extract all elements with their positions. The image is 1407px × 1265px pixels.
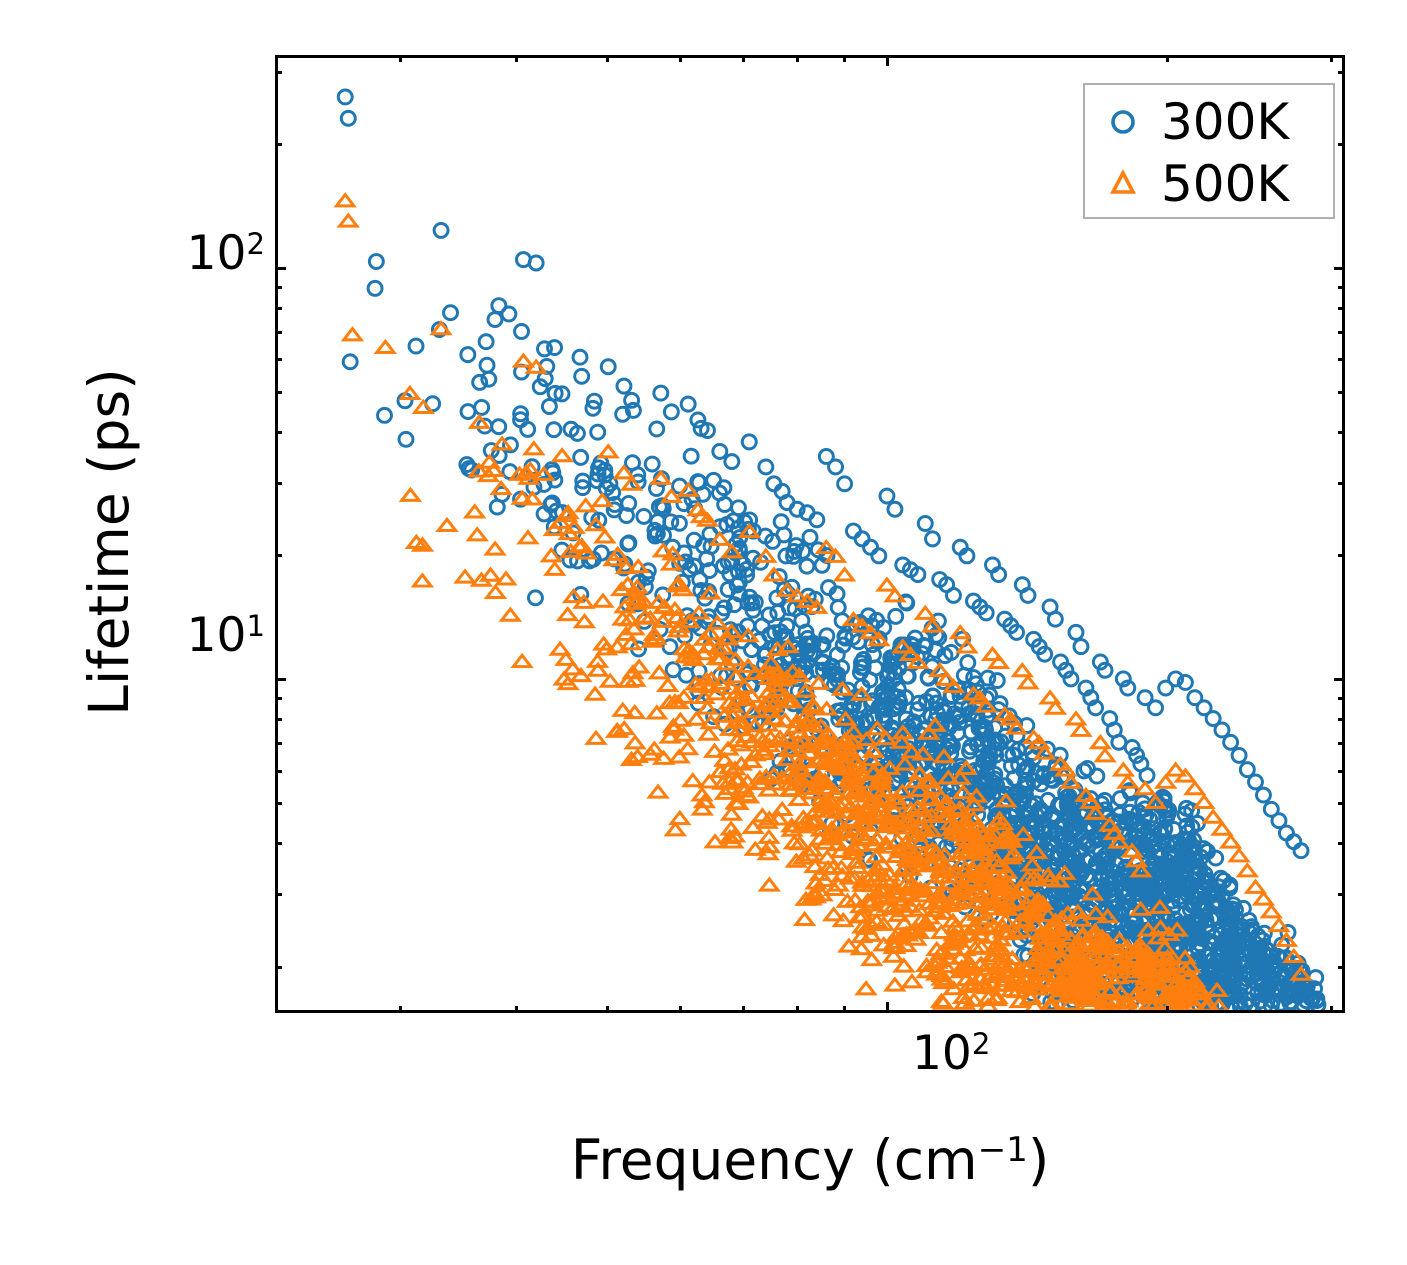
y-minor-tick [275, 391, 282, 394]
legend-label-500k: 500K [1161, 159, 1289, 209]
data-point [587, 732, 604, 743]
data-point [1067, 713, 1084, 724]
y-minor-tick [1338, 331, 1345, 334]
data-point [679, 742, 696, 753]
data-point [1096, 750, 1113, 761]
data-point [700, 728, 717, 739]
data-point [713, 444, 727, 458]
data-point [574, 450, 588, 464]
x-minor-tick [1330, 1006, 1333, 1013]
legend-marker-triangle-icon [1085, 167, 1161, 201]
y-minor-tick [275, 331, 282, 334]
y-minor-tick [275, 842, 282, 845]
x-minor-tick [1166, 55, 1169, 62]
data-point [377, 341, 394, 352]
data-point [947, 588, 961, 602]
y-minor-tick [275, 431, 282, 434]
y-minor-tick [1338, 742, 1345, 745]
data-point [918, 517, 932, 531]
data-point [488, 313, 502, 327]
data-point [1069, 625, 1083, 639]
x-minor-tick [1330, 55, 1333, 62]
data-point [1222, 836, 1239, 847]
y-minor-tick [275, 718, 282, 721]
data-point [547, 423, 561, 437]
y-tick-label-10: 101 [187, 612, 265, 659]
data-point [1074, 640, 1088, 654]
data-point [836, 569, 853, 580]
y-axis-title: Lifetime (ps) [77, 63, 141, 1021]
data-point [546, 563, 563, 574]
data-point [649, 786, 666, 797]
y-minor-tick [1338, 770, 1345, 773]
scatter-plot-figure: 102 101 102 Frequency (cm−1) Lifetime (p… [0, 0, 1407, 1265]
y-minor-tick [275, 966, 282, 969]
data-point [482, 569, 499, 580]
data-point [487, 586, 504, 597]
y-minor-tick [1338, 71, 1345, 74]
data-point [706, 836, 723, 847]
data-point [543, 550, 560, 561]
data-point [684, 449, 698, 463]
data-point [513, 655, 530, 666]
x-minor-tick [742, 55, 745, 62]
data-point [1224, 735, 1238, 749]
data-point [456, 571, 473, 582]
data-point [725, 455, 739, 469]
data-point [480, 358, 494, 372]
y-major-tick [275, 267, 286, 270]
data-point [479, 335, 493, 349]
data-point [469, 529, 486, 540]
data-point [706, 745, 723, 756]
data-point [473, 375, 487, 389]
data-point [864, 540, 878, 554]
data-point [659, 679, 676, 690]
data-point [399, 432, 413, 446]
data-point [637, 509, 651, 523]
data-point [341, 111, 355, 125]
data-point [1072, 724, 1089, 735]
data-point [368, 281, 382, 295]
data-point [497, 573, 514, 584]
data-point [878, 579, 895, 590]
y-minor-tick [275, 802, 282, 805]
x-minor-tick [515, 1006, 518, 1013]
data-point [336, 195, 353, 206]
data-point [1247, 881, 1264, 892]
data-point [502, 609, 519, 620]
y-minor-tick [1338, 842, 1345, 845]
data-point [654, 386, 668, 400]
data-point [414, 575, 431, 586]
data-point [1140, 769, 1154, 783]
data-point [645, 457, 659, 471]
data-point [747, 843, 764, 854]
y-major-tick [275, 678, 286, 681]
data-point [617, 379, 631, 393]
data-point [466, 506, 483, 517]
x-minor-tick [843, 55, 846, 62]
data-point [838, 477, 852, 491]
data-point [1136, 783, 1153, 794]
data-point [596, 531, 613, 542]
data-point [1195, 796, 1212, 807]
data-point [846, 524, 860, 538]
x-minor-tick [399, 1006, 402, 1013]
data-point [667, 824, 684, 835]
data-point [521, 422, 535, 436]
data-point [711, 533, 728, 544]
data-point [490, 500, 504, 514]
y-major-tick [1334, 678, 1345, 681]
data-point [553, 450, 570, 461]
y-minor-tick [1338, 718, 1345, 721]
y-minor-tick [275, 307, 282, 310]
y-minor-tick [1338, 143, 1345, 146]
y-minor-tick [275, 482, 282, 485]
data-point [519, 532, 536, 543]
data-point [857, 983, 874, 994]
data-point [829, 460, 843, 474]
data-point [626, 456, 640, 470]
data-point [810, 513, 824, 527]
x-minor-tick [399, 55, 402, 62]
data-point [338, 90, 352, 104]
data-point [1112, 735, 1126, 749]
data-point [742, 435, 756, 449]
data-point [872, 549, 886, 563]
data-point [684, 774, 701, 785]
y-minor-tick [275, 286, 282, 289]
x-minor-tick [1166, 1006, 1169, 1013]
data-point [599, 446, 616, 457]
data-point [796, 913, 813, 924]
x-minor-tick [742, 1006, 745, 1013]
y-minor-tick [275, 770, 282, 773]
data-point [486, 543, 503, 554]
y-minor-tick [1338, 307, 1345, 310]
y-minor-tick [1338, 802, 1345, 805]
y-minor-tick [1338, 358, 1345, 361]
y-minor-tick [275, 554, 282, 557]
legend-marker-circle-icon [1085, 105, 1161, 139]
data-point [1157, 776, 1174, 787]
y-minor-tick [275, 358, 282, 361]
data-point [369, 255, 383, 269]
data-point [575, 369, 589, 383]
data-point [759, 460, 773, 474]
y-minor-tick [275, 143, 282, 146]
data-point [1048, 612, 1062, 626]
y-minor-tick [1338, 286, 1345, 289]
data-point [761, 879, 778, 890]
y-major-tick [1334, 267, 1345, 270]
data-point [679, 668, 693, 682]
data-point [1204, 811, 1221, 822]
data-point [800, 559, 814, 573]
data-point [482, 372, 496, 386]
y-minor-tick [1338, 482, 1345, 485]
data-point [573, 350, 587, 364]
data-point [1115, 764, 1132, 775]
data-point [777, 528, 791, 542]
data-point [340, 215, 357, 226]
data-point [1014, 664, 1031, 675]
data-point [681, 397, 695, 411]
data-point [614, 704, 631, 715]
x-minor-tick [796, 55, 799, 62]
data-point [1090, 769, 1104, 783]
data-point [492, 420, 506, 434]
y-minor-tick [275, 893, 282, 896]
data-point [528, 591, 542, 605]
data-point [601, 360, 615, 374]
data-point [672, 516, 686, 530]
data-point [1230, 850, 1247, 861]
data-point [444, 306, 458, 320]
data-point [880, 489, 894, 503]
data-point [886, 979, 903, 990]
legend-entry-300k: 300K [1085, 91, 1333, 153]
y-tick-label-100: 102 [187, 230, 265, 277]
data-point [475, 400, 489, 414]
data-point [1249, 775, 1263, 789]
data-point [502, 307, 516, 321]
data-point [1256, 788, 1270, 802]
data-point [671, 812, 688, 823]
data-point [402, 489, 419, 500]
data-point [577, 500, 594, 511]
y-minor-tick [275, 697, 282, 700]
data-point [461, 405, 475, 419]
data-point [888, 502, 902, 516]
data-point [1270, 919, 1287, 930]
data-point [626, 737, 643, 748]
data-point [1149, 701, 1163, 715]
x-minor-tick [679, 1006, 682, 1013]
x-axis-title: Frequency (cm−1) [275, 1128, 1345, 1192]
data-point [461, 348, 475, 362]
data-point [655, 545, 672, 556]
legend-entry-500k: 500K [1085, 153, 1333, 215]
data-point [559, 608, 576, 619]
data-point [889, 609, 903, 623]
data-point [1263, 906, 1280, 917]
x-tick-label-100: 102 [912, 1030, 990, 1077]
data-point [650, 422, 664, 436]
data-point [664, 405, 678, 419]
x-major-tick [886, 1002, 889, 1013]
y-minor-tick [1338, 697, 1345, 700]
data-point [438, 519, 455, 530]
y-minor-tick [1338, 391, 1345, 394]
x-minor-tick [679, 55, 682, 62]
y-minor-tick [1338, 893, 1345, 896]
data-point [803, 530, 817, 544]
data-point [378, 408, 392, 422]
y-minor-tick [275, 71, 282, 74]
data-point [525, 443, 542, 454]
x-minor-tick [606, 1006, 609, 1013]
data-point [990, 674, 1004, 688]
data-point [831, 600, 845, 614]
legend-box: 300K 500K [1083, 83, 1335, 219]
data-point [1092, 736, 1109, 747]
data-point [343, 355, 357, 369]
data-point [990, 656, 1007, 667]
data-point [926, 532, 940, 546]
data-point [1239, 865, 1256, 876]
x-major-tick [886, 55, 889, 66]
data-point [855, 532, 869, 546]
data-point [515, 325, 529, 339]
data-point [415, 401, 432, 412]
data-point [538, 342, 552, 356]
data-point [1255, 893, 1272, 904]
x-minor-tick [515, 55, 518, 62]
y-minor-tick [1338, 966, 1345, 969]
data-point [1019, 677, 1036, 688]
y-minor-tick [1338, 554, 1345, 557]
data-point [774, 515, 788, 529]
data-point [586, 688, 603, 699]
data-point [957, 668, 971, 682]
data-point [917, 607, 934, 618]
data-point [732, 501, 746, 515]
legend-label-300k: 300K [1161, 97, 1289, 147]
data-point [958, 641, 975, 652]
x-minor-tick [843, 1006, 846, 1013]
x-minor-tick [606, 55, 609, 62]
data-point [1186, 783, 1203, 794]
data-point [1232, 748, 1246, 762]
data-point [434, 223, 448, 237]
y-minor-tick [275, 742, 282, 745]
data-point [663, 640, 677, 654]
data-point [409, 339, 423, 353]
x-minor-tick [796, 1006, 799, 1013]
y-minor-tick [1338, 431, 1345, 434]
data-point [344, 329, 361, 340]
data-point [529, 256, 543, 270]
data-point [576, 615, 593, 626]
data-point [1213, 823, 1230, 834]
data-point [591, 425, 605, 439]
data-point [594, 595, 611, 606]
